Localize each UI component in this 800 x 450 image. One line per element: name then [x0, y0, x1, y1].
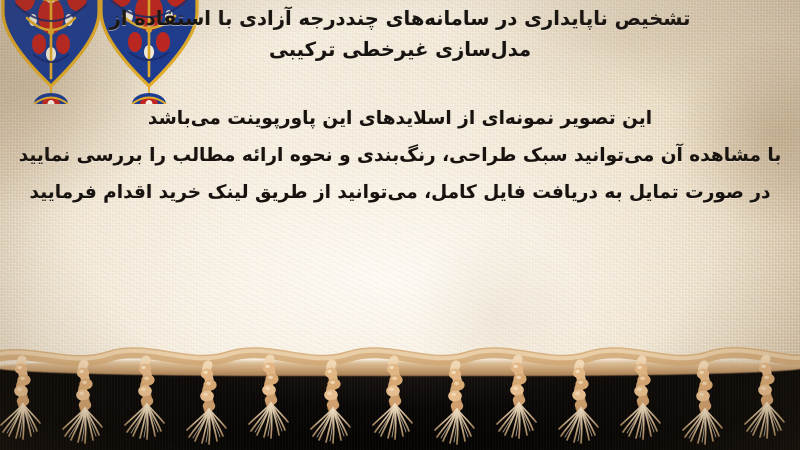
slide-canvas: تشخیص ناپایداری در سامانه‌های چنددرجه آز… — [0, 0, 800, 450]
body-line-1: این تصویر نمونه‌ای از اسلایدهای این پاور… — [12, 104, 788, 134]
carpet-tassel-fringe — [0, 330, 800, 450]
title-line-1: تشخیص ناپایداری در سامانه‌های چنددرجه آز… — [14, 4, 786, 35]
body-text: این تصویر نمونه‌ای از اسلایدهای این پاور… — [0, 104, 800, 208]
body-line-2: با مشاهده آن می‌توانید سبک طراحی، رنگ‌بن… — [12, 141, 788, 171]
tassel-row — [0, 330, 800, 450]
page-title: تشخیص ناپایداری در سامانه‌های چنددرجه آز… — [0, 4, 800, 66]
body-line-3: در صورت تمایل به دریافت فایل کامل، می‌تو… — [12, 178, 788, 208]
title-line-2: مدل‌سازی غیرخطی ترکیبی — [14, 35, 786, 66]
